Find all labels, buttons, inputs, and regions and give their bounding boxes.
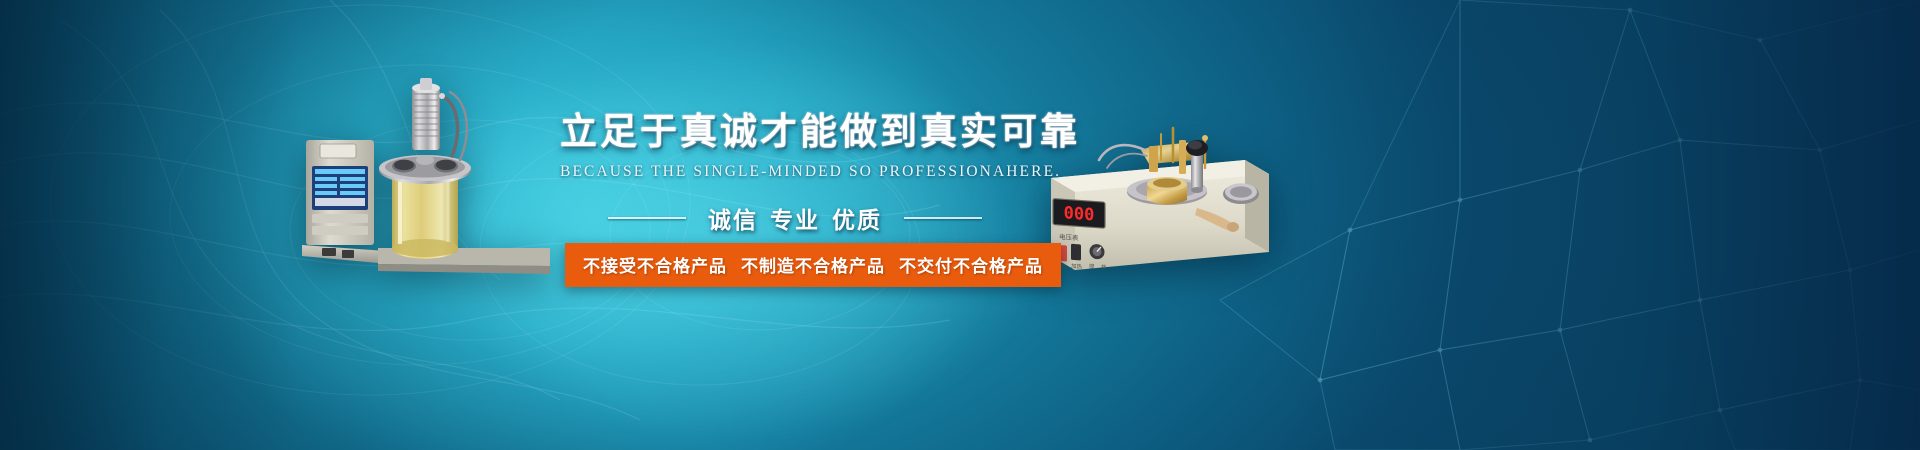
viscosity-bath-instrument-image bbox=[300, 52, 550, 282]
keyword-item-0: 诚信 bbox=[708, 208, 758, 234]
banner-keyword-row: 诚信专业优质 bbox=[560, 201, 1030, 235]
tester-voltage-label: 电压表 bbox=[1059, 232, 1079, 242]
slogan-item-1: 不制造不合格产品 bbox=[741, 257, 885, 277]
keyword-rule-right bbox=[904, 217, 982, 219]
keyword-rule-left bbox=[608, 217, 686, 219]
keyword-item-2: 优质 bbox=[832, 208, 882, 234]
slogan-item-2: 不交付不合格产品 bbox=[899, 257, 1043, 277]
keyword-item-1: 专业 bbox=[770, 208, 820, 234]
quality-slogan-ribbon: 不接受不合格产品不制造不合格产品不交付不合格产品 bbox=[565, 243, 1061, 287]
tester-display-value: 000 bbox=[1064, 203, 1095, 225]
banner-headline: 立足于真诚才能做到真实可靠 bbox=[560, 110, 1030, 154]
slogan-item-0: 不接受不合格产品 bbox=[583, 257, 727, 277]
promo-banner: 000 电压表 点机 加热 搅 拌 bbox=[0, 0, 1920, 450]
quality-slogan-text: 不接受不合格产品不制造不合格产品不交付不合格产品 bbox=[583, 252, 1043, 277]
banner-keywords: 诚信专业优质 bbox=[702, 201, 888, 235]
left-edge-shade bbox=[0, 0, 300, 450]
banner-subheadline: BECAUSE THE SINGLE-MINDED SO PROFESSIONA… bbox=[560, 163, 1030, 181]
right-edge-shade bbox=[1280, 0, 1920, 450]
banner-copy-block: 立足于真诚才能做到真实可靠 BECAUSE THE SINGLE-MINDED … bbox=[560, 110, 1030, 235]
